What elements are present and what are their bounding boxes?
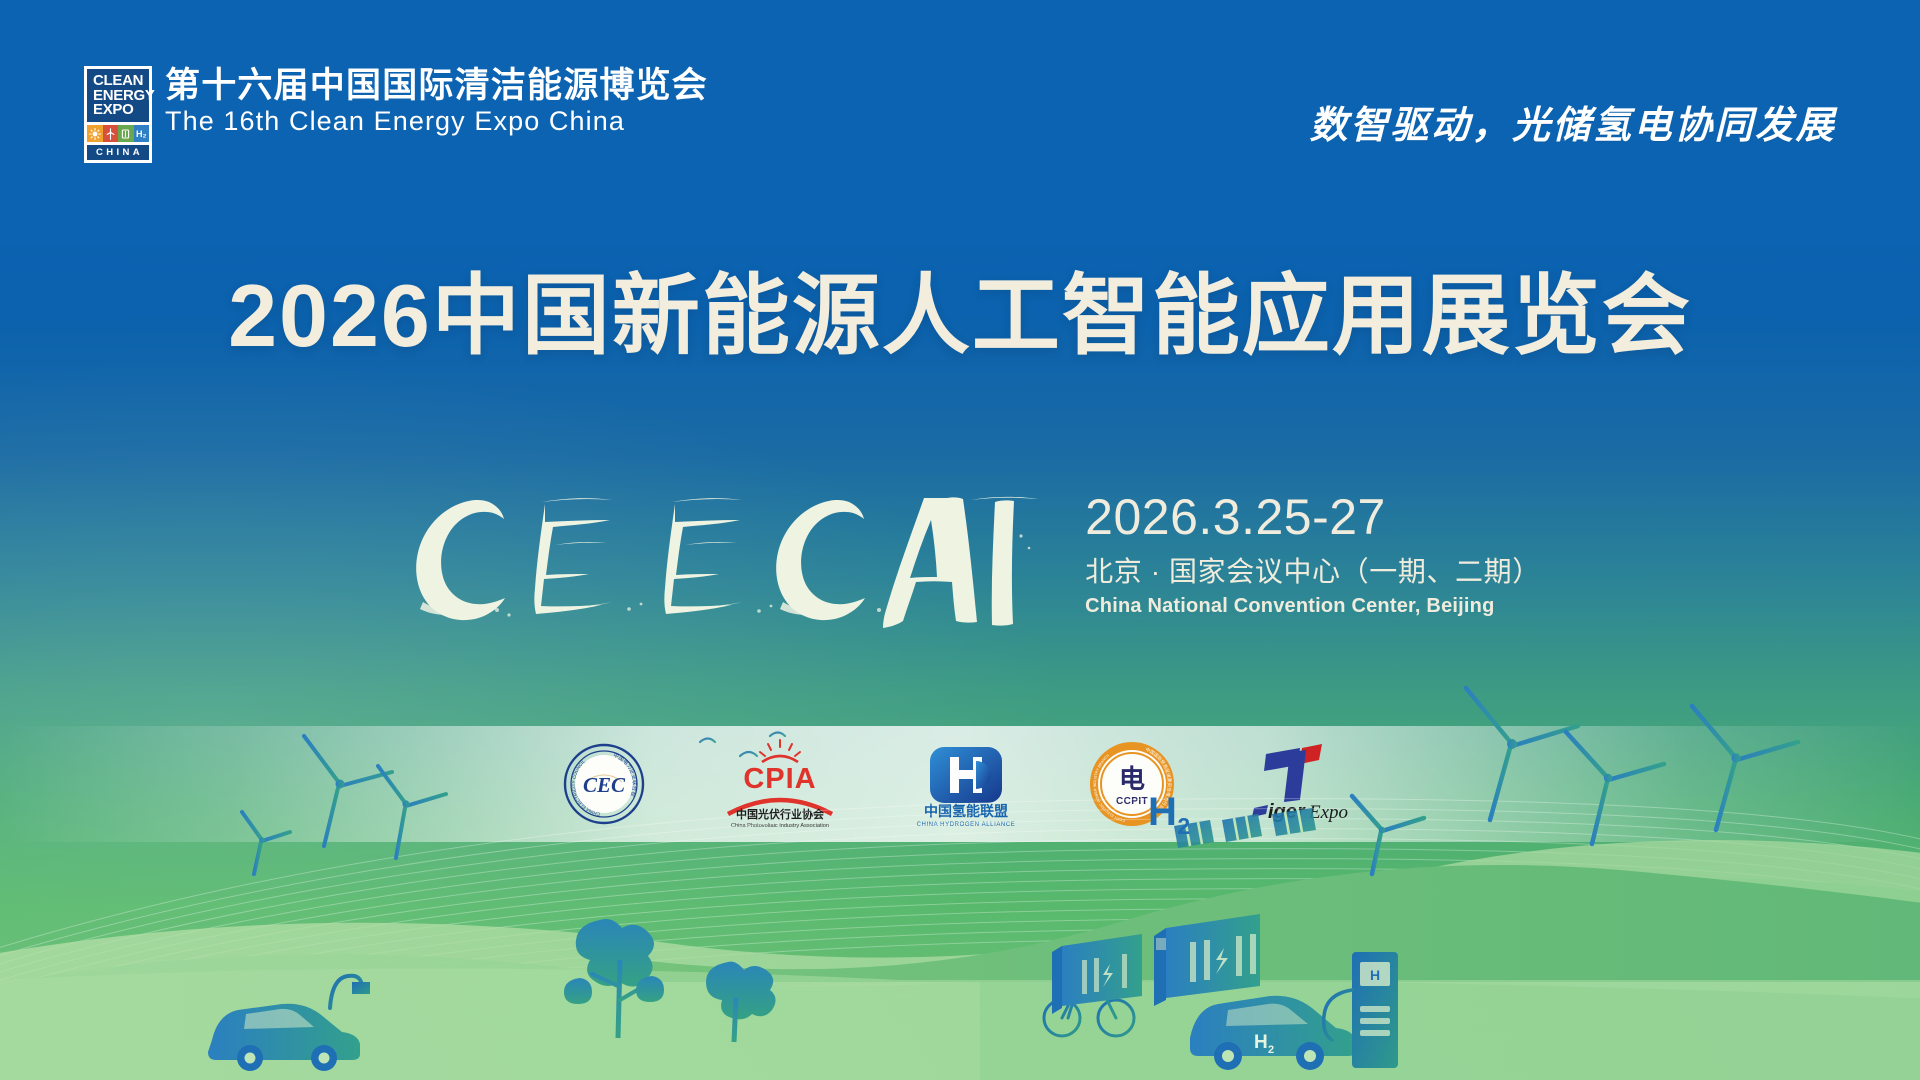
event-details: 2026.3.25-27 北京 · 国家会议中心（一期、二期） China Na…: [1085, 488, 1541, 618]
header-tagline: 数智驱动，光储氢电协同发展: [1309, 94, 1836, 149]
logo-line-3: EXPO: [93, 103, 144, 118]
header: CLEAN ENERGY EXPO H₂ CHINA: [0, 0, 1920, 180]
bird-icon: [700, 733, 785, 757]
event-date: 2026.3.25-27: [1085, 492, 1541, 543]
expo-title-group: 第十六届中国国际清洁能源博览会 The 16th Clean Energy Ex…: [165, 66, 708, 136]
event-venue-cn: 北京 · 国家会议中心（一期、二期）: [1085, 550, 1541, 590]
svg-text:H: H: [1370, 967, 1380, 983]
expo-title-cn: 第十六届中国国际清洁能源博览会: [165, 67, 708, 105]
wind-icon: [103, 125, 119, 142]
page-title: 2026中国新能源人工智能应用展览会: [0, 272, 1920, 360]
event-venue-en: China National Convention Center, Beijin…: [1085, 595, 1541, 618]
biomass-icon: [118, 125, 134, 142]
solar-panel-icon: [1174, 808, 1316, 874]
svg-text:2: 2: [1268, 1044, 1274, 1056]
hydrogen-icon: H₂: [134, 125, 150, 142]
clean-energy-landscape-illustration: H 2 H: [0, 660, 1920, 1080]
expo-logo-lockup: CLEAN ENERGY EXPO H₂ CHINA: [84, 66, 708, 163]
expo-title-en: The 16th Clean Energy Expo China: [165, 106, 708, 136]
logo-country-label: CHINA: [84, 145, 152, 163]
h2-symbol: H: [1148, 790, 1177, 834]
logo-text-box: CLEAN ENERGY EXPO: [84, 66, 152, 125]
ceec-ai-wordmark-icon: [379, 478, 1039, 628]
logo-energy-swatches: H₂: [84, 125, 152, 145]
brand-row: 2026.3.25-27 北京 · 国家会议中心（一期、二期） China Na…: [0, 478, 1920, 628]
banner-root: CLEAN ENERGY EXPO H₂ CHINA: [0, 0, 1920, 1080]
clean-energy-expo-logo-icon: CLEAN ENERGY EXPO H₂ CHINA: [84, 66, 152, 163]
hydrogen-car-badge: H: [1254, 1032, 1268, 1053]
sun-icon: [87, 125, 103, 142]
hydrogen-h2-label: H2: [1148, 790, 1191, 840]
h2-subscript: 2: [1177, 813, 1190, 839]
